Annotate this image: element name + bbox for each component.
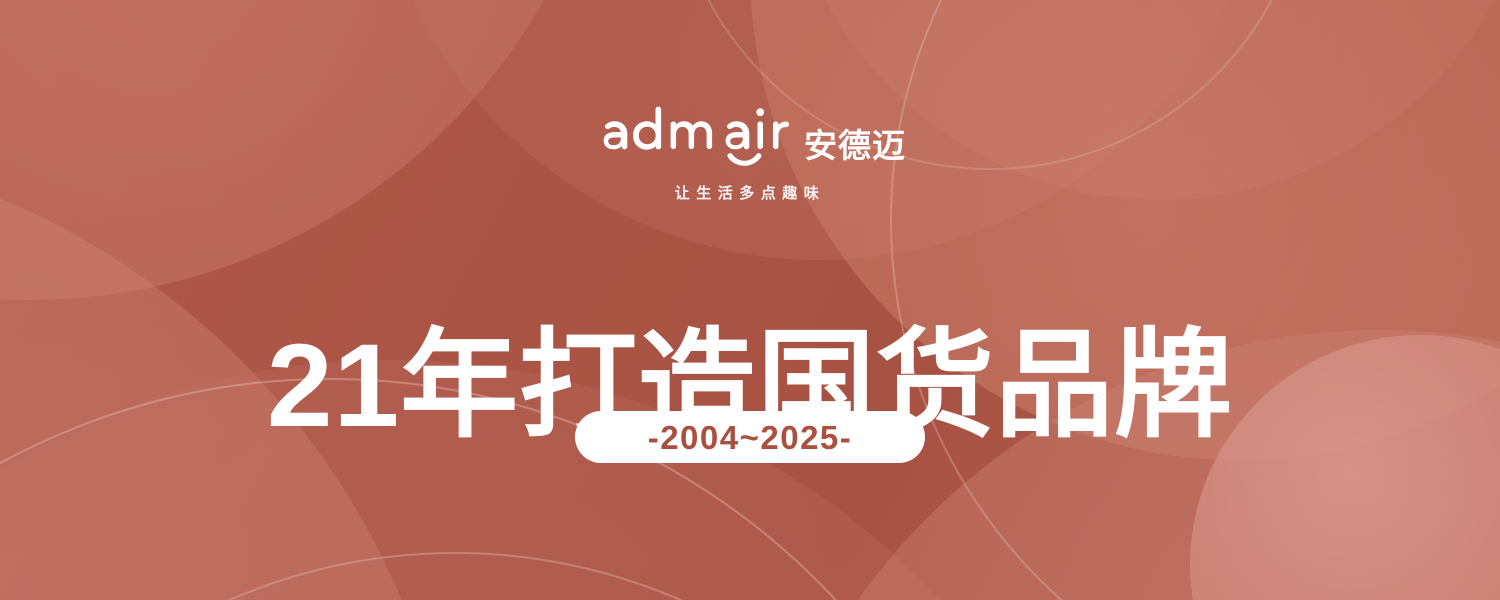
year-range-badge: -2004~2025- bbox=[575, 411, 925, 463]
banner-content: 安德迈 让生活多点趣味 21年打造国货品牌 -2004~2025- bbox=[0, 0, 1500, 600]
admair-wordmark bbox=[594, 104, 790, 166]
brand-tagline: 让生活多点趣味 bbox=[675, 186, 826, 201]
brand-banner: 安德迈 让生活多点趣味 21年打造国货品牌 -2004~2025- bbox=[0, 0, 1500, 600]
year-range-text: -2004~2025- bbox=[648, 421, 853, 454]
brand-logo-lockup: 安德迈 bbox=[594, 104, 906, 166]
brand-chinese-name: 安德迈 bbox=[804, 129, 906, 166]
